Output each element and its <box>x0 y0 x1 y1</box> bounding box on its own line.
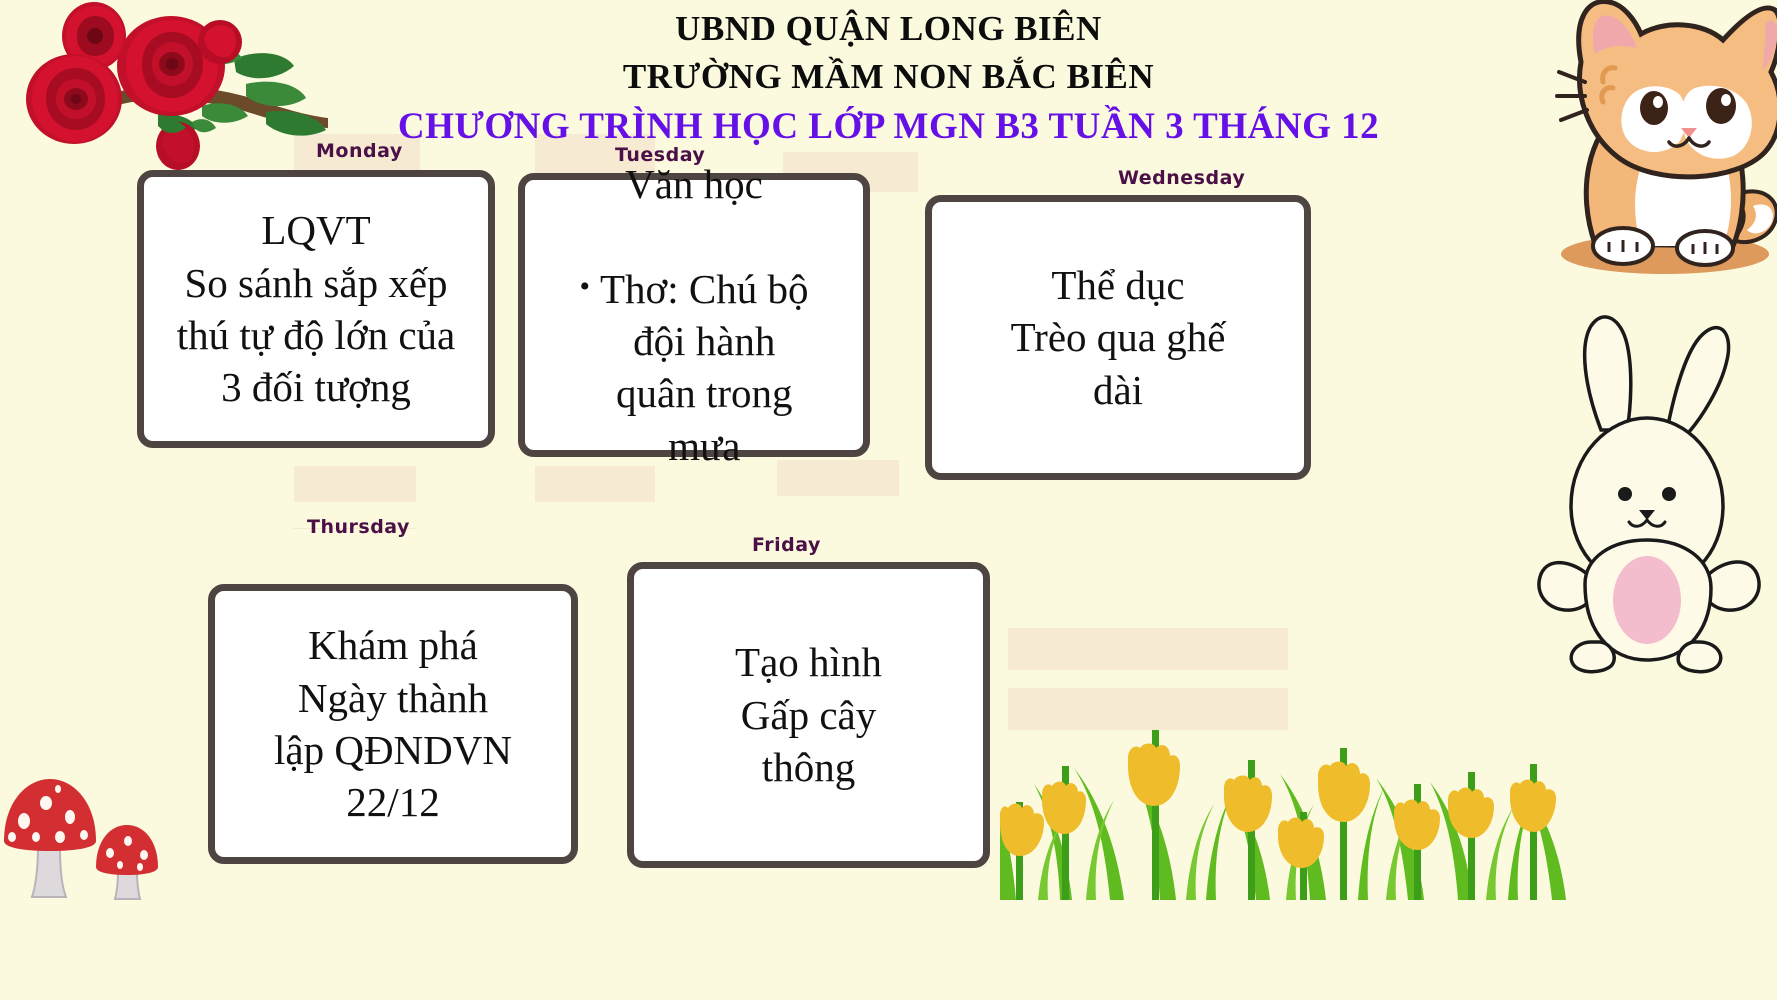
card-text-monday: LQVT So sánh sắp xếp thú tự độ lớn của 3… <box>144 204 488 414</box>
card-text-wednesday: Thể dục Trèo qua ghế dài <box>932 259 1304 416</box>
bullet-icon: • <box>580 263 591 312</box>
white-bunny-icon <box>1535 312 1765 682</box>
card-bullet-row-tuesday: • Thơ: Chú bộ đội hành quân trong mưa <box>525 263 863 473</box>
card-text-tuesday: Văn học • Thơ: Chú bộ đội hành quân tron… <box>525 105 863 525</box>
day-label-friday: Friday <box>752 534 821 556</box>
card-detail-tuesday: Thơ: Chú bộ đội hành quân trong mưa <box>600 263 808 473</box>
red-roses-bouquet-icon <box>6 0 336 174</box>
card-text-friday: Tạo hình Gấp cây thông <box>634 636 983 793</box>
schedule-card-wednesday[interactable]: Thể dục Trèo qua ghế dài <box>925 195 1311 480</box>
card-text-thursday: Khám phá Ngày thành lập QĐNDVN 22/12 <box>215 619 571 829</box>
schedule-card-friday[interactable]: Tạo hình Gấp cây thông <box>627 562 990 868</box>
schedule-card-thursday[interactable]: Khám phá Ngày thành lập QĐNDVN 22/12 <box>208 584 578 864</box>
day-label-wednesday: Wednesday <box>1118 167 1245 189</box>
day-label-thursday: Thursday <box>307 516 410 538</box>
red-mushrooms-icon <box>0 755 195 900</box>
orange-cat-icon <box>1537 0 1777 276</box>
schedule-card-monday[interactable]: LQVT So sánh sắp xếp thú tự độ lớn của 3… <box>137 170 495 448</box>
day-label-tuesday: Tuesday <box>615 144 705 166</box>
schedule-card-tuesday[interactable]: Văn học • Thơ: Chú bộ đội hành quân tron… <box>518 173 870 457</box>
yellow-tulips-grass-icon <box>1000 660 1580 900</box>
band-monday-bottom <box>294 466 416 502</box>
